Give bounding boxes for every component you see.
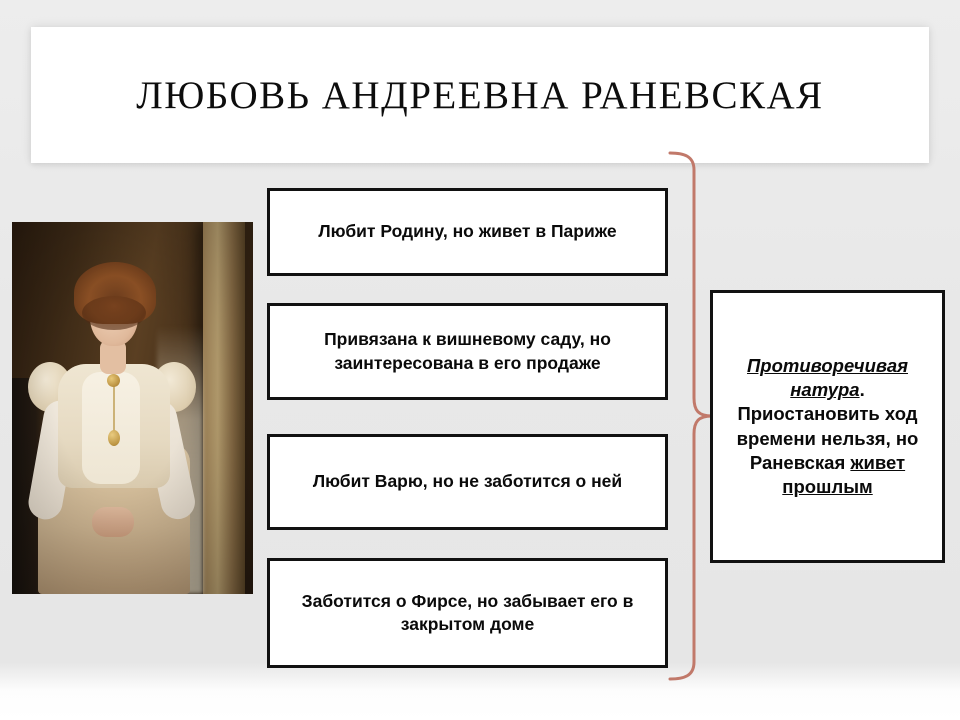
fact-box-1: Любит Родину, но живет в Париже <box>267 188 668 276</box>
title-inner-panel: ЛЮБОВЬ АНДРЕЕВНА РАНЕВСКАЯ <box>57 51 903 139</box>
fact-text-2: Привязана к вишневому саду, но заинтерес… <box>282 328 653 374</box>
curly-brace-connector <box>668 150 716 682</box>
conclusion-emphasis: Противоречивая натура <box>747 355 908 400</box>
page-title: ЛЮБОВЬ АНДРЕЕВНА РАНЕВСКАЯ <box>136 76 823 115</box>
character-photo <box>12 222 253 594</box>
fact-box-2: Привязана к вишневому саду, но заинтерес… <box>267 303 668 400</box>
fact-box-3: Любит Варю, но не заботится о ней <box>267 434 668 530</box>
fact-text-4: Заботится о Фирсе, но забывает его в зак… <box>282 590 653 636</box>
conclusion-box: Противоречивая натура. Приостановить ход… <box>710 290 945 563</box>
brace-path <box>670 153 712 679</box>
fact-box-4: Заботится о Фирсе, но забывает его в зак… <box>267 558 668 668</box>
conclusion-emphasis-period: . <box>860 379 865 400</box>
conclusion-text: Противоречивая натура. Приостановить ход… <box>721 354 934 498</box>
photo-backdrop <box>12 222 253 594</box>
fact-text-1: Любит Родину, но живет в Париже <box>318 220 616 243</box>
slide: ЛЮБОВЬ АНДРЕЕВНА РАНЕВСКАЯ <box>0 0 960 720</box>
fact-text-3: Любит Варю, но не заботится о ней <box>313 470 622 493</box>
photo-vignette <box>12 222 253 594</box>
title-banner: ЛЮБОВЬ АНДРЕЕВНА РАНЕВСКАЯ <box>31 27 929 163</box>
